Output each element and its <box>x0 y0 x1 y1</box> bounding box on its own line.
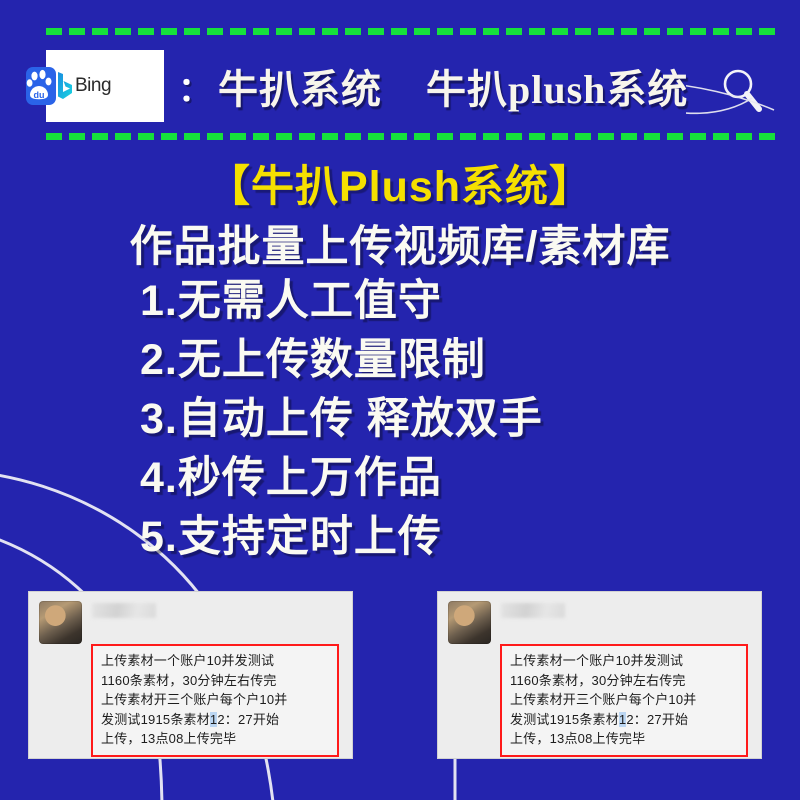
header: du Bing ： <box>46 46 778 126</box>
chat-line: 上传素材开三个账户每个户10并 <box>510 690 739 710</box>
chat-line-text: 发测试1915条素材 <box>101 712 210 727</box>
divider-top <box>46 28 778 35</box>
chat-line: 发测试1915条素材12：27开始 <box>510 710 739 730</box>
chat-line-text: 上传素材一个账户10并发测试 <box>101 653 274 668</box>
chat-line-text: 1160条素材，30分钟左右传完 <box>101 673 277 688</box>
feature-item-5: 5.支持定时上传 <box>140 508 543 567</box>
feature-item-4: 4.秒传上万作品 <box>140 449 543 508</box>
chat-line-text-post: 2：27开始 <box>626 712 688 727</box>
header-separator: ： <box>178 62 212 111</box>
avatar <box>448 601 491 644</box>
header-title-left: 牛扒系统 <box>218 57 382 115</box>
promo-poster: du Bing ： <box>0 0 800 800</box>
chat-header-row <box>29 592 352 644</box>
chat-line: 上传素材开三个账户每个户10并 <box>101 690 330 710</box>
divider-bottom <box>46 133 778 140</box>
chat-line: 上传素材一个账户10并发测试 <box>101 651 330 671</box>
chat-line-text: 上传素材一个账户10并发测试 <box>510 653 683 668</box>
chat-line-text: 上传，13点08上传完毕 <box>510 731 645 746</box>
feature-item-3: 3.自动上传 释放双手 <box>140 390 543 449</box>
feature-item-2: 2.无上传数量限制 <box>140 331 543 390</box>
sender-name-redacted <box>501 603 565 618</box>
chat-line-text: 1160条素材，30分钟左右传完 <box>510 673 686 688</box>
chat-line: 1160条素材，30分钟左右传完 <box>101 671 330 691</box>
chat-bubble: 上传素材一个账户10并发测试 1160条素材，30分钟左右传完 上传素材开三个账… <box>91 644 339 757</box>
bing-logo: Bing <box>56 50 111 122</box>
chat-screenshot-left: 上传素材一个账户10并发测试 1160条素材，30分钟左右传完 上传素材开三个账… <box>28 591 353 759</box>
baidu-paw-glyph: du <box>26 67 56 105</box>
baidu-logo: du Bing <box>46 50 92 122</box>
chat-line: 上传，13点08上传完毕 <box>510 729 739 749</box>
chat-line-text: 上传，13点08上传完毕 <box>101 731 236 746</box>
chat-line-text: 发测试1915条素材 <box>510 712 619 727</box>
baidu-logo-label: du <box>33 90 44 100</box>
header-title-right: 牛扒plush系统 <box>426 57 688 115</box>
chat-line: 发测试1915条素材12：27开始 <box>101 710 330 730</box>
bing-logo-label: Bing <box>75 75 111 97</box>
feature-item-1: 1.无需人工值守 <box>140 272 543 331</box>
chat-line: 上传，13点08上传完毕 <box>101 729 330 749</box>
chat-line-text: 上传素材开三个账户每个户10并 <box>101 692 287 707</box>
magnifier-icon <box>686 54 778 124</box>
feature-list: 1.无需人工值守 2.无上传数量限制 3.自动上传 释放双手 4.秒传上万作品 … <box>140 272 543 567</box>
chat-screenshot-right: 上传素材一个账户10并发测试 1160条素材，30分钟左右传完 上传素材开三个账… <box>437 591 762 759</box>
page-title: 【牛扒Plush系统】 <box>0 152 800 214</box>
chat-header-row <box>438 592 761 644</box>
page-subtitle: 作品批量上传视频库/素材库 <box>0 212 800 274</box>
chat-line-text: 上传素材开三个账户每个户10并 <box>510 692 696 707</box>
search-engine-logos: du Bing <box>46 50 164 122</box>
chat-line: 1160条素材，30分钟左右传完 <box>510 671 739 691</box>
chat-bubble: 上传素材一个账户10并发测试 1160条素材，30分钟左右传完 上传素材开三个账… <box>500 644 748 757</box>
chat-line: 上传素材一个账户10并发测试 <box>510 651 739 671</box>
chat-line-text-post: 2：27开始 <box>217 712 279 727</box>
avatar <box>39 601 82 644</box>
sender-name-redacted <box>92 603 156 618</box>
baidu-paw-icon: du <box>26 67 56 105</box>
bing-b-icon <box>56 71 73 101</box>
